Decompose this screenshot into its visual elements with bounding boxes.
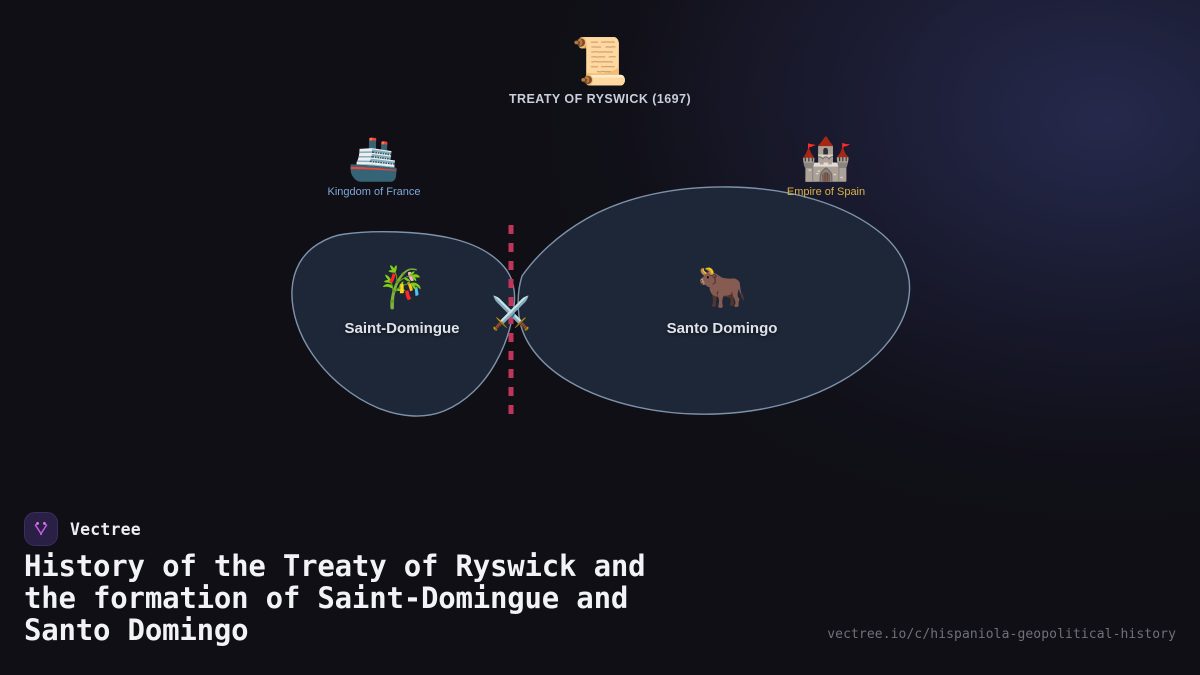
vectree-leaf-left [36, 522, 39, 525]
tanabata-tree-icon: 🎋 [322, 268, 482, 308]
map-canvas: 📜 TREATY OF RYSWICK (1697) 🚢 Kingdom of … [0, 0, 1200, 480]
treaty-label: TREATY OF RYSWICK (1697) [500, 92, 700, 106]
vectree-glyph [31, 519, 51, 539]
castle-icon: 🏰 [746, 138, 906, 180]
brand-name: Vectree [70, 520, 141, 539]
vectree-leaf-right [43, 522, 46, 525]
territory-node-santo-domingo[interactable]: 🐂 Santo Domingo [642, 268, 802, 337]
power-node-france[interactable]: 🚢 Kingdom of France [294, 138, 454, 198]
territory-label-santo-domingo: Santo Domingo [642, 320, 802, 337]
conflict-marker[interactable]: ⚔️ [486, 297, 536, 329]
source-url: vectree.io/c/hispaniola-geopolitical-his… [827, 627, 1176, 642]
vectree-logo-icon [24, 512, 58, 546]
power-node-spain[interactable]: 🏰 Empire of Spain [746, 138, 906, 198]
treaty-node[interactable]: 📜 TREATY OF RYSWICK (1697) [500, 38, 700, 106]
brand-row[interactable]: Vectree [24, 512, 141, 546]
crossed-swords-icon: ⚔️ [486, 297, 536, 329]
ox-icon: 🐂 [642, 268, 802, 308]
vectree-root [40, 533, 42, 535]
page-title: History of the Treaty of Ryswick and the… [24, 550, 864, 646]
territory-node-saint-domingue[interactable]: 🎋 Saint-Domingue [322, 268, 482, 337]
territory-label-saint-domingue: Saint-Domingue [322, 320, 482, 337]
scroll-icon: 📜 [500, 38, 700, 84]
power-label-france: Kingdom of France [294, 186, 454, 198]
ship-icon: 🚢 [294, 138, 454, 180]
power-label-spain: Empire of Spain [746, 186, 906, 198]
footer: Vectree History of the Treaty of Ryswick… [0, 480, 1200, 675]
